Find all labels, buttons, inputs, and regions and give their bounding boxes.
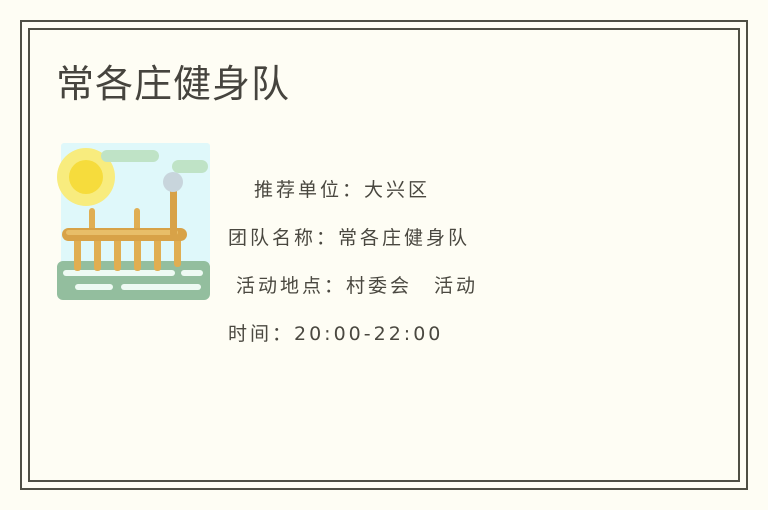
info-card: 常各庄健身队 推荐单位：大兴区 团队名称：常各庄健身队 活动地点：村委会 活动 …: [0, 0, 768, 510]
cloud-icon: [172, 160, 208, 173]
detail-line-activity-time: 时间：20:00-22:00: [228, 310, 648, 358]
outdoor-fitness-illustration: [57, 143, 210, 300]
ground-stripe: [181, 270, 203, 276]
cloud-icon: [101, 150, 159, 162]
page-title: 常各庄健身队: [56, 62, 290, 108]
sun-icon: [69, 160, 103, 194]
details-text-block: 推荐单位：大兴区 团队名称：常各庄健身队 活动地点：村委会 活动 时间：20:0…: [228, 166, 648, 358]
detail-line-team-name: 团队名称：常各庄健身队: [228, 214, 648, 262]
ground-stripe: [75, 284, 113, 290]
ground-stripe: [121, 284, 201, 290]
horizontal-bar-highlight: [66, 230, 178, 235]
detail-line-activity-location: 活动地点：村委会 活动: [228, 262, 648, 310]
pole-ball-icon: [163, 172, 183, 192]
detail-line-recommending-unit: 推荐单位：大兴区: [228, 166, 648, 214]
tall-pole: [170, 185, 177, 237]
